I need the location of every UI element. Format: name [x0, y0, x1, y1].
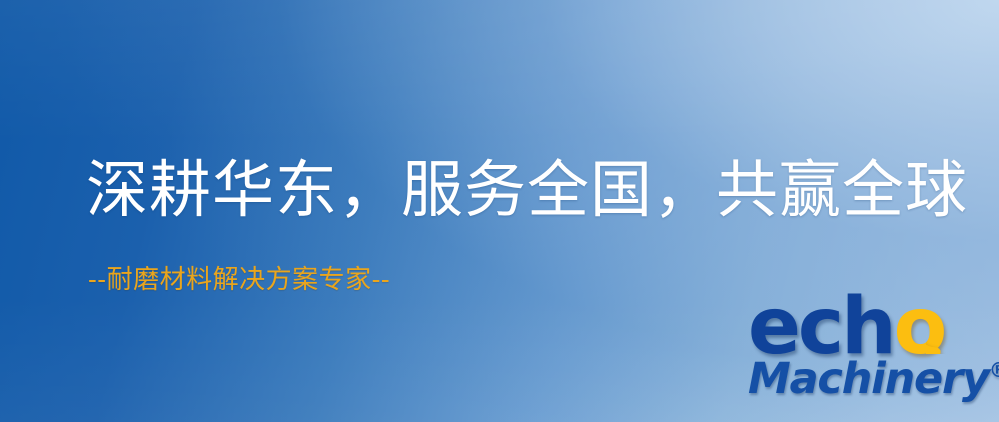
promo-banner: 深耕华东，服务全国，共赢全球 --耐磨材料解决方案专家-- echo Machi…	[0, 0, 999, 422]
registered-trademark-icon: ®	[989, 358, 999, 382]
banner-headline: 深耕华东，服务全国，共赢全球	[86, 158, 968, 221]
logo-tagline: Machinery®	[748, 358, 999, 401]
banner-subtitle: --耐磨材料解决方案专家--	[88, 266, 390, 295]
logo-tagline-text: Machinery	[748, 354, 989, 404]
echo-machinery-logo[interactable]: echo Machinery®	[744, 292, 999, 422]
echo-waves-icon	[926, 288, 996, 354]
